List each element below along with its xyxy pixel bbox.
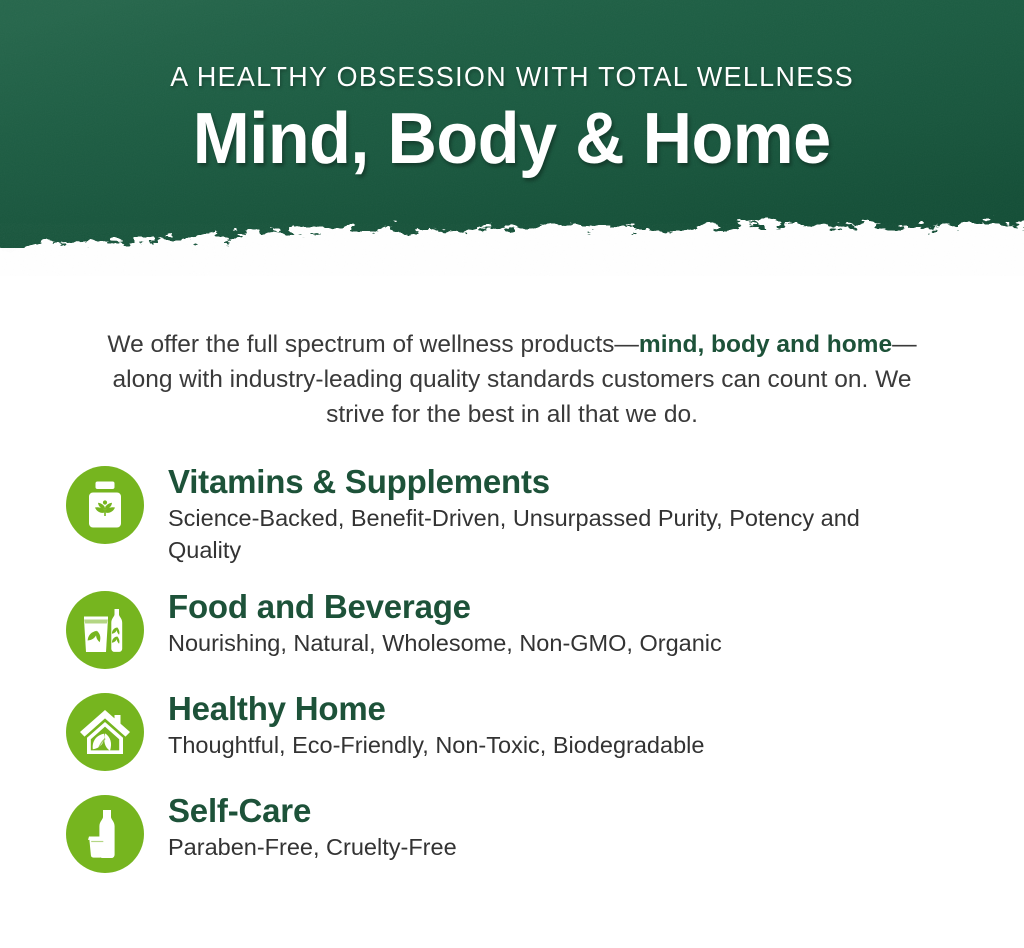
feature-description: Paraben-Free, Cruelty-Free — [168, 832, 928, 864]
feature-title: Vitamins & Supplements — [168, 464, 984, 501]
lotion-bottle-jar-icon — [66, 795, 144, 873]
feature-description: Science-Backed, Benefit-Driven, Unsurpas… — [168, 503, 928, 567]
hero-banner: A HEALTHY OBSESSION WITH TOTAL WELLNESS … — [0, 0, 1024, 300]
feature-text: Food and Beverage Nourishing, Natural, W… — [144, 587, 984, 660]
feature-description: Nourishing, Natural, Wholesome, Non-GMO,… — [168, 628, 928, 660]
intro-highlight: mind, body and home — [639, 331, 892, 358]
feature-description: Thoughtful, Eco-Friendly, Non-Toxic, Bio… — [168, 730, 928, 762]
feature-list: Vitamins & Supplements Science-Backed, B… — [0, 432, 1024, 873]
feature-text: Vitamins & Supplements Science-Backed, B… — [144, 462, 984, 567]
intro-section: We offer the full spectrum of wellness p… — [0, 300, 1024, 432]
intro-paragraph: We offer the full spectrum of wellness p… — [80, 328, 944, 432]
feature-item: Vitamins & Supplements Science-Backed, B… — [66, 462, 984, 567]
hero-text-block: A HEALTHY OBSESSION WITH TOTAL WELLNESS … — [0, 0, 1024, 240]
hero-kicker: A HEALTHY OBSESSION WITH TOTAL WELLNESS — [170, 62, 854, 93]
feature-title: Food and Beverage — [168, 589, 984, 626]
feature-text: Self-Care Paraben-Free, Cruelty-Free — [144, 791, 984, 864]
supplement-bottle-icon — [66, 466, 144, 544]
feature-title: Self-Care — [168, 793, 984, 830]
feature-text: Healthy Home Thoughtful, Eco-Friendly, N… — [144, 689, 984, 762]
intro-text-part1: We offer the full spectrum of wellness p… — [107, 331, 639, 358]
feature-item: Self-Care Paraben-Free, Cruelty-Free — [66, 791, 984, 873]
feature-item: Healthy Home Thoughtful, Eco-Friendly, N… — [66, 689, 984, 771]
page-title: Mind, Body & Home — [193, 99, 831, 180]
feature-title: Healthy Home — [168, 691, 984, 728]
food-pouch-bottle-icon — [66, 591, 144, 669]
feature-item: Food and Beverage Nourishing, Natural, W… — [66, 587, 984, 669]
house-leaf-icon — [66, 693, 144, 771]
